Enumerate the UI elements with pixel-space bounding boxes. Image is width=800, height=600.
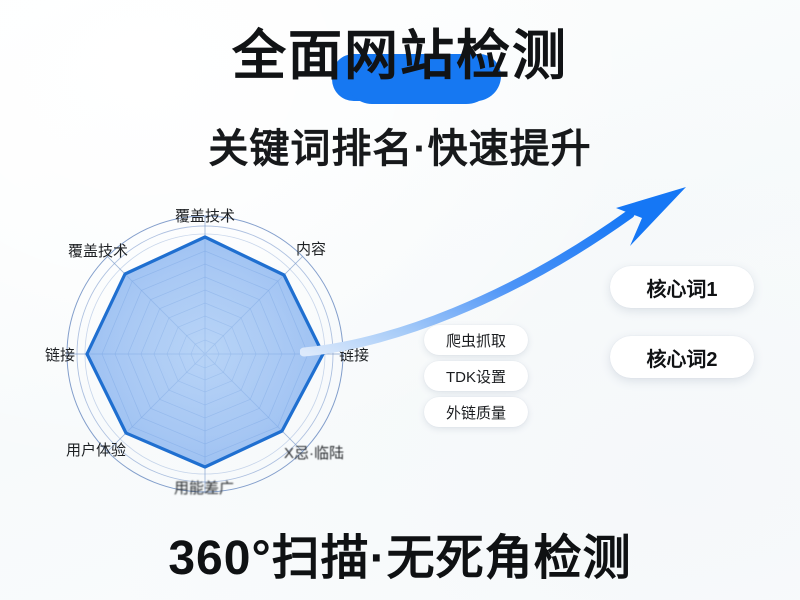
radar-label-right: 链接: [339, 344, 369, 365]
radar-label-top-left: 覆盖技术: [68, 240, 128, 261]
radar-label-bottom-right: X忌·临陆: [284, 442, 344, 463]
radar-label-top-right: 内容: [296, 238, 326, 259]
footer-headline-container: 360°扫描·无死角检测: [0, 518, 800, 588]
radar-label-layer: 覆盖技术 内容 链接 X忌·临陆 用能差广 用户体验 链接 覆盖技术: [30, 196, 420, 516]
keyword-chip-2[interactable]: 核心词2: [610, 336, 754, 378]
keyword-chip-label: 核心词2: [646, 343, 717, 372]
radar-label-bottom: 用能差广: [174, 477, 234, 498]
footer-headline-text: 360°扫描·无死角检测: [168, 518, 631, 588]
main-headline-text: 全面网站检测: [232, 26, 568, 86]
poster-canvas: 全面网站检测 关键词排名·快速提升: [0, 0, 800, 600]
subheadline-text: 关键词排名·快速提升: [208, 116, 591, 174]
keyword-chip-1[interactable]: 核心词1: [610, 266, 754, 308]
main-headline: 全面网站检测: [232, 28, 568, 85]
radar-label-top: 覆盖技术: [175, 205, 235, 226]
arrow-head: [616, 187, 686, 246]
feature-chip-label: 外链质量: [446, 402, 506, 423]
feature-chip-tdk[interactable]: TDK设置: [424, 361, 528, 391]
radar-label-left: 链接: [45, 344, 75, 365]
keyword-chip-label: 核心词1: [646, 273, 717, 302]
feature-chip-crawl[interactable]: 爬虫抓取: [424, 325, 528, 355]
feature-chip-label: 爬虫抓取: [446, 330, 506, 351]
radar-chart: 覆盖技术 内容 链接 X忌·临陆 用能差广 用户体验 链接 覆盖技术: [30, 196, 420, 516]
radar-label-bottom-left: 用户体验: [66, 439, 126, 460]
headline-container: 全面网站检测: [0, 28, 800, 85]
feature-chip-backlink[interactable]: 外链质量: [424, 397, 528, 427]
subheadline-container: 关键词排名·快速提升: [0, 116, 800, 174]
feature-chip-label: TDK设置: [446, 366, 506, 387]
